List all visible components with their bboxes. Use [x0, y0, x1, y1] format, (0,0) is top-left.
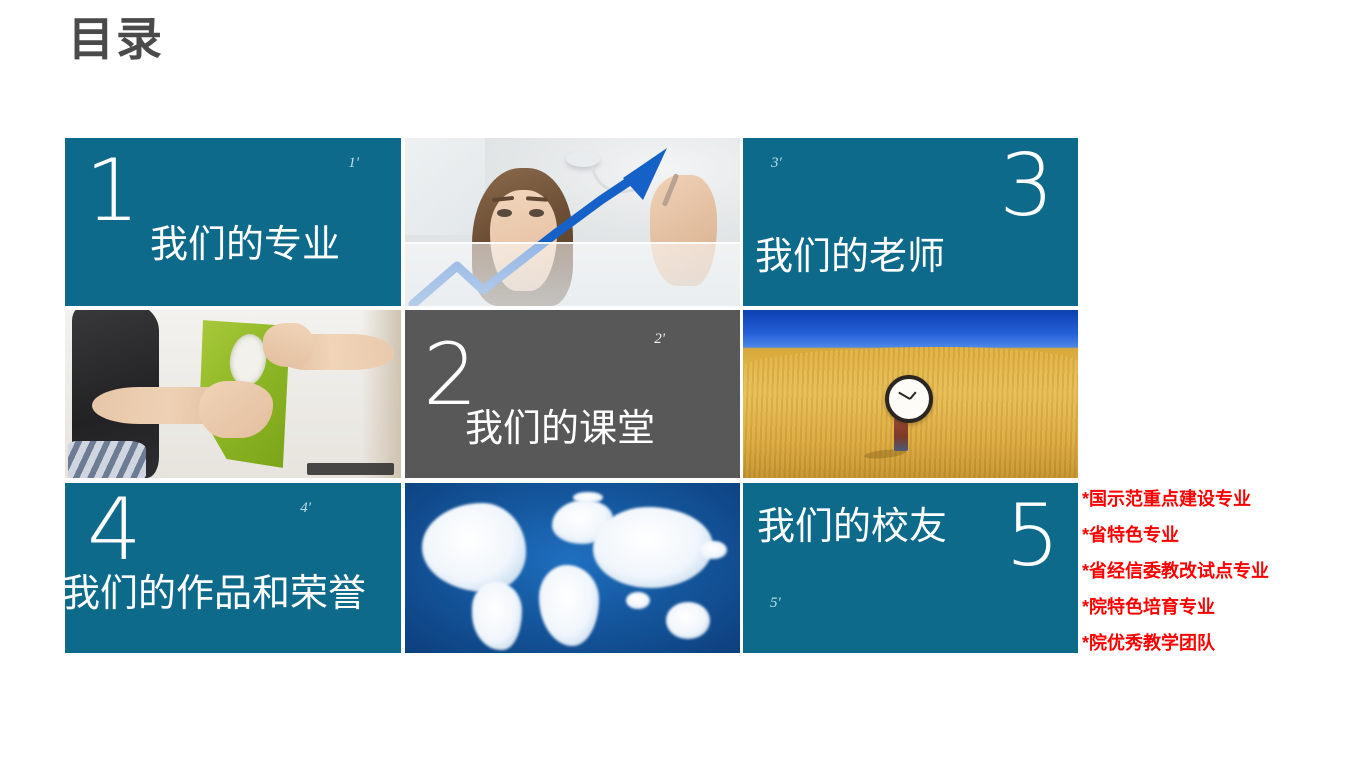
contents-tile-photo-bag[interactable] — [65, 310, 401, 478]
page-title: 目录 — [68, 14, 164, 65]
hands-exchanging-green-shopping-bag-photo — [65, 310, 401, 478]
note-item: *省经信委教改试点专业 — [1082, 562, 1344, 580]
tile-5-label: 我们的校友 — [757, 508, 947, 546]
contents-tile-4[interactable]: 4 4' 我们的作品和荣誉 — [65, 483, 401, 653]
cloud-wisp-one-shape — [573, 492, 603, 504]
accreditation-notes-list: *国示范重点建设专业 *省特色专业 *省经信委教改试点专业 *院特色培育专业 *… — [1082, 490, 1344, 670]
glass-pane-shape — [405, 242, 740, 306]
contents-tile-photo-arrow[interactable] — [405, 138, 740, 306]
contents-tile-3[interactable]: 3 3' 我们的老师 — [743, 138, 1078, 306]
cloud-world-map-blue-sky-photo — [405, 483, 740, 653]
tile-2-label: 我们的课堂 — [465, 410, 655, 448]
cloud-wisp-two-shape — [626, 592, 649, 609]
contents-tile-5[interactable]: 5 5' 我们的校友 — [743, 483, 1078, 653]
contents-tile-2[interactable]: 2 2' 我们的课堂 — [405, 310, 740, 478]
clock-minute-hand — [898, 391, 910, 399]
tile-3-marker: 3' — [771, 156, 782, 171]
clock-icon — [885, 375, 933, 423]
tile-1-label: 我们的专业 — [150, 226, 340, 264]
tile-5-marker: 5' — [770, 596, 781, 611]
tile-3-number: 3 — [999, 143, 1054, 229]
hand-left-shape — [199, 381, 273, 438]
floor-edge-shape — [307, 463, 394, 475]
tile-2-number: 2 — [423, 332, 478, 418]
contents-tile-photo-wheat[interactable] — [743, 310, 1078, 478]
note-item: *省特色专业 — [1082, 526, 1344, 544]
note-item: *院特色培育专业 — [1082, 598, 1344, 616]
tile-4-marker: 4' — [300, 501, 311, 516]
person-holding-clock-in-wheat-field-photo — [743, 310, 1078, 478]
tile-5-number: 5 — [1005, 493, 1060, 579]
skirt-shape — [68, 441, 145, 478]
cloud-north-america-shape — [422, 503, 526, 591]
cloud-africa-shape — [539, 565, 599, 647]
cloud-australia-shape — [666, 602, 710, 639]
woman-drawing-rising-arrow-photo — [405, 138, 740, 306]
note-item: *国示范重点建设专业 — [1082, 490, 1344, 508]
tile-2-marker: 2' — [654, 332, 665, 347]
hand-right-shape — [263, 323, 313, 367]
tile-1-number: 1 — [85, 148, 140, 234]
cloud-wisp-three-shape — [700, 541, 727, 560]
tile-4-number: 4 — [87, 487, 142, 573]
contents-tile-grid: 1 1' 我们的专业 3 3' 我们的老师 — [65, 138, 1078, 653]
note-item: *院优秀教学团队 — [1082, 634, 1344, 652]
tile-1-marker: 1' — [348, 156, 359, 171]
contents-tile-photo-clouds[interactable] — [405, 483, 740, 653]
contents-tile-1[interactable]: 1 1' 我们的专业 — [65, 138, 401, 306]
cloud-asia-shape — [593, 507, 714, 589]
cloud-south-america-shape — [472, 582, 522, 650]
tile-4-label: 我们的作品和荣誉 — [65, 575, 366, 613]
tile-3-label: 我们的老师 — [755, 238, 945, 276]
